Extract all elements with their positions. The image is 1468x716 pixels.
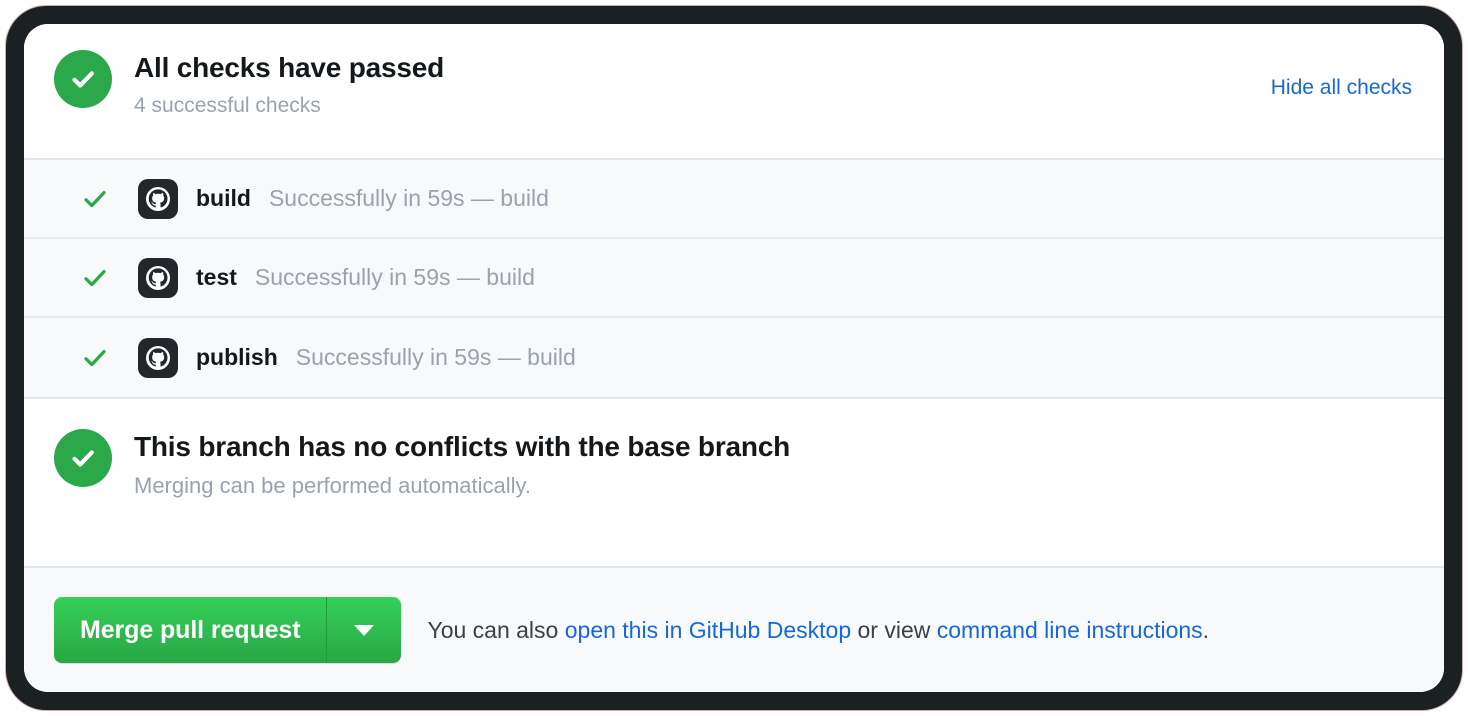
check-name: build [196, 185, 251, 212]
check-description: Successfully in 59s — build [296, 344, 576, 371]
command-line-instructions-link[interactable]: command line instructions [937, 617, 1203, 643]
check-icon [78, 186, 112, 212]
conflicts-title: This branch has no conflicts with the ba… [134, 429, 790, 464]
merge-footer: Merge pull request You can also open thi… [24, 568, 1444, 692]
merge-help-suffix: . [1203, 617, 1209, 643]
chevron-down-icon [354, 625, 374, 636]
check-description: Successfully in 59s — build [269, 185, 549, 212]
merge-help-text: You can also open this in GitHub Desktop… [427, 617, 1209, 644]
merge-help-middle: or view [851, 617, 937, 643]
device-frame: All checks have passed 4 successful chec… [6, 6, 1462, 710]
check-name: publish [196, 344, 278, 371]
page-title: All checks have passed [134, 50, 444, 85]
check-description: Successfully in 59s — build [255, 264, 535, 291]
github-actions-icon [138, 258, 178, 298]
check-icon [78, 265, 112, 291]
table-row[interactable]: test Successfully in 59s — build [24, 239, 1444, 318]
checks-list: build Successfully in 59s — build test S… [24, 158, 1444, 399]
conflicts-subtitle: Merging can be performed automatically. [134, 473, 790, 499]
merge-button-group: Merge pull request [54, 597, 401, 663]
check-circle-icon [54, 429, 112, 487]
github-actions-icon [138, 179, 178, 219]
merge-help-prefix: You can also [427, 617, 564, 643]
checks-summary: 4 successful checks [134, 93, 444, 118]
hide-all-checks-link[interactable]: Hide all checks [1271, 76, 1412, 100]
check-icon [78, 345, 112, 371]
table-row[interactable]: publish Successfully in 59s — build [24, 318, 1444, 397]
check-name: test [196, 264, 237, 291]
merge-pull-request-button[interactable]: Merge pull request [54, 597, 327, 663]
merge-status-card: All checks have passed 4 successful chec… [24, 24, 1444, 692]
merge-conflicts-section: This branch has no conflicts with the ba… [24, 399, 1444, 568]
checks-header: All checks have passed 4 successful chec… [24, 24, 1444, 158]
check-circle-icon [54, 50, 112, 108]
merge-options-dropdown-button[interactable] [327, 597, 401, 663]
table-row[interactable]: build Successfully in 59s — build [24, 160, 1444, 239]
github-actions-icon [138, 338, 178, 378]
github-desktop-link[interactable]: open this in GitHub Desktop [565, 617, 851, 643]
